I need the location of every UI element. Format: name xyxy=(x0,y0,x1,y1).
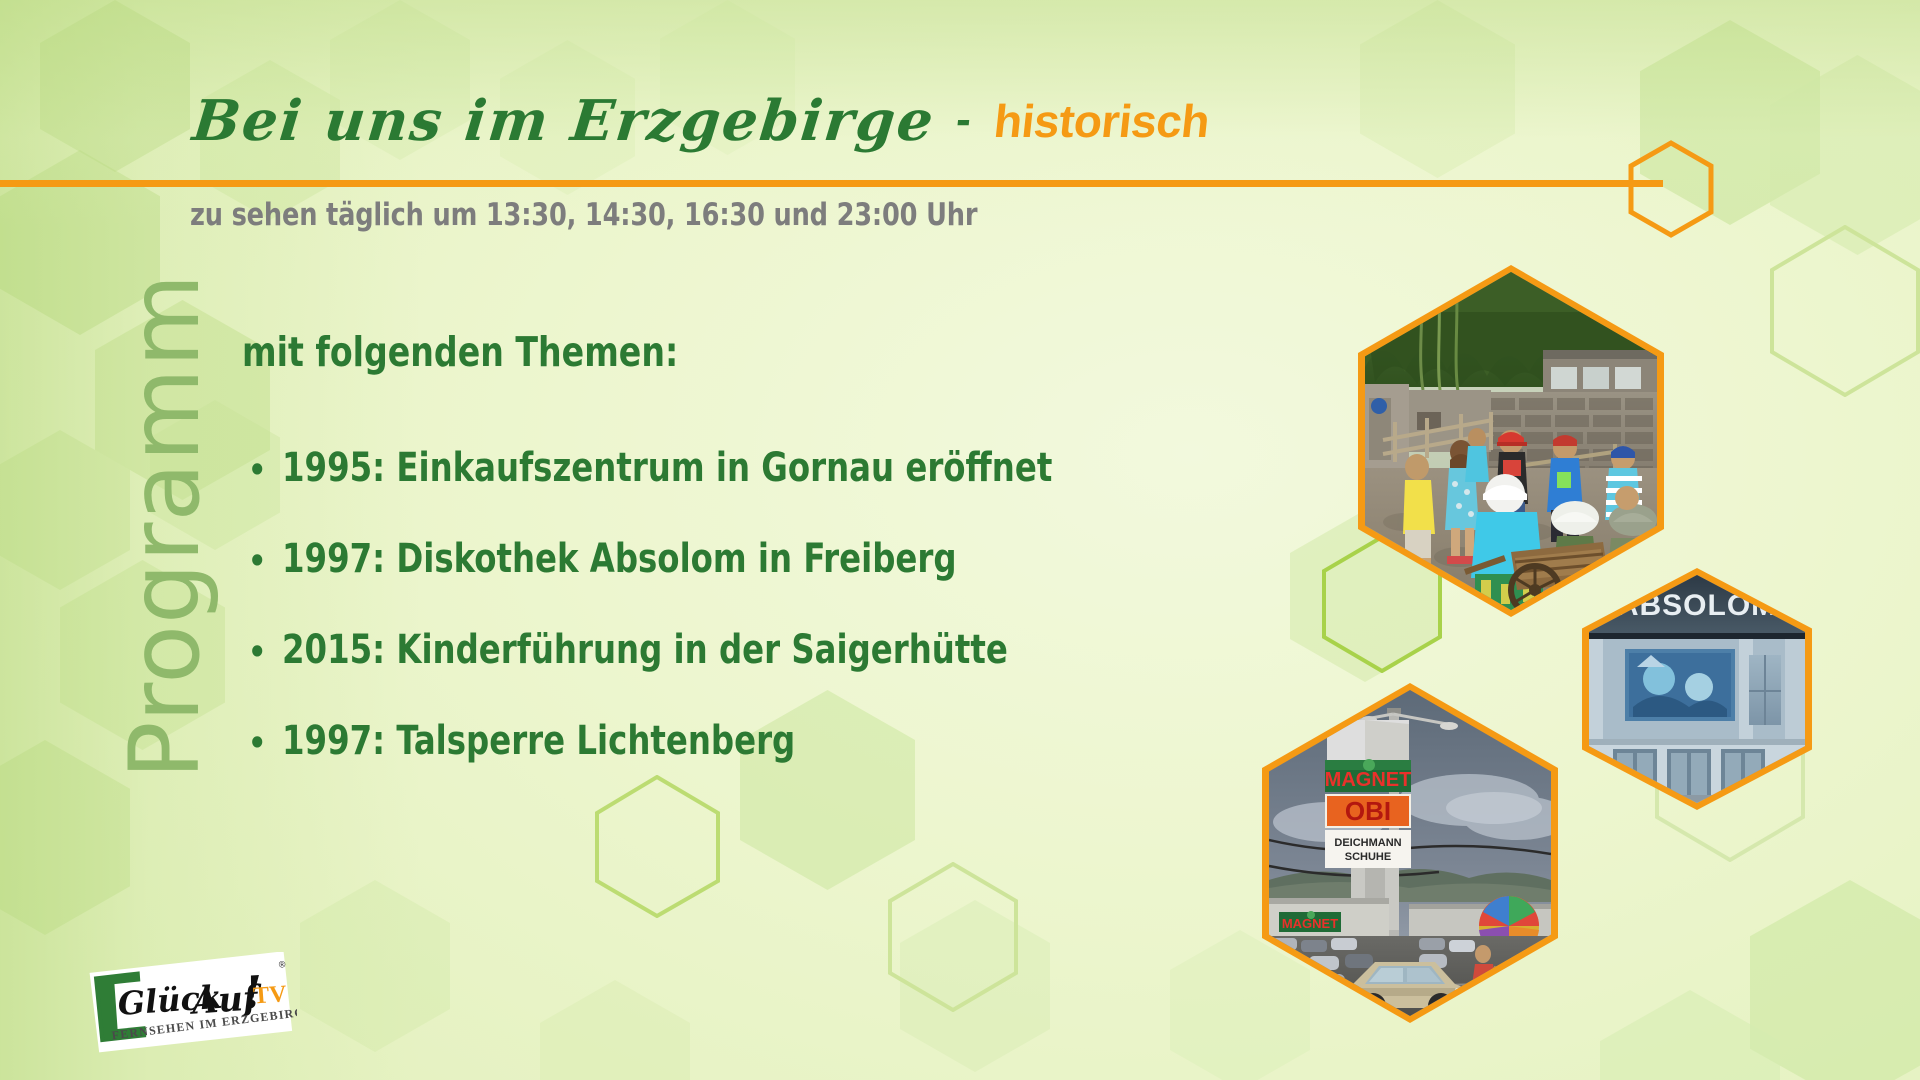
page-title-accent: historisch xyxy=(992,98,1212,144)
list-item-label: 1997: Talsperre Lichtenberg xyxy=(282,718,795,764)
photo-einkaufszentrum-gornau: MAGNET OBI DEICHMANN SCHUHE MAGNET xyxy=(1262,683,1558,1023)
photo-image xyxy=(1365,272,1657,610)
glueckauf-tv-logo[interactable]: Glück Auf ! ® TV FERNSEHEN IM ERZGEBIRGE xyxy=(82,952,297,1057)
list-item: • 2015: Kinderführung in der Saigerhütte xyxy=(248,627,1248,718)
page-title: Bei uns im Erzgebirge - historisch xyxy=(190,93,1212,149)
decorative-hexagon-outline xyxy=(1770,225,1920,397)
bullet-icon: • xyxy=(248,727,282,759)
magnet-sign-text: MAGNET xyxy=(1325,769,1412,791)
list-item: • 1997: Talsperre Lichtenberg xyxy=(248,718,1248,809)
page-title-dash: - xyxy=(954,98,975,142)
vertical-programm-label: Programm xyxy=(109,206,221,846)
photo-kinderfuehrung-saigerhuette xyxy=(1358,265,1664,617)
logo-registered-mark: ® xyxy=(278,959,286,969)
list-item: • 1997: Diskothek Absolom in Freiberg xyxy=(248,536,1248,627)
photo-diskothek-absolom: ABSOLOM xyxy=(1582,568,1812,810)
deichmann-sign-text-2: SCHUHE xyxy=(1345,851,1391,863)
deichmann-sign-text-1: DEICHMANN xyxy=(1334,837,1401,849)
list-item-label: 1995: Einkaufszentrum in Gornau eröffnet xyxy=(282,445,1052,491)
logo-tv-mark: TV xyxy=(252,981,288,1009)
bullet-icon: • xyxy=(248,454,282,486)
absolom-sign-text: ABSOLOM xyxy=(1617,589,1777,622)
decorative-hexagon xyxy=(540,980,690,1080)
list-item-label: 2015: Kinderführung in der Saigerhütte xyxy=(282,627,1008,673)
list-item: • 1995: Einkaufszentrum in Gornau eröffn… xyxy=(248,445,1248,536)
list-item-label: 1997: Diskothek Absolom in Freiberg xyxy=(282,536,957,582)
slide-root: Programm Bei uns im Erzgebirge - histori… xyxy=(0,0,1920,1080)
photo-image: MAGNET OBI DEICHMANN SCHUHE MAGNET xyxy=(1269,690,1551,1016)
topics-list: • 1995: Einkaufszentrum in Gornau eröffn… xyxy=(248,445,1248,809)
bullet-icon: • xyxy=(248,636,282,668)
page-title-main: Bei uns im Erzgebirge xyxy=(190,88,939,154)
obi-sign-text: OBI xyxy=(1345,796,1391,826)
bullet-icon: • xyxy=(248,545,282,577)
decorative-hexagon-outline xyxy=(888,862,1018,1012)
header-rule xyxy=(0,180,1663,187)
header-rule-hexagon xyxy=(1628,140,1714,243)
broadcast-times: zu sehen täglich um 13:30, 14:30, 16:30 … xyxy=(190,197,977,233)
topics-heading: mit folgenden Themen: xyxy=(242,328,678,376)
